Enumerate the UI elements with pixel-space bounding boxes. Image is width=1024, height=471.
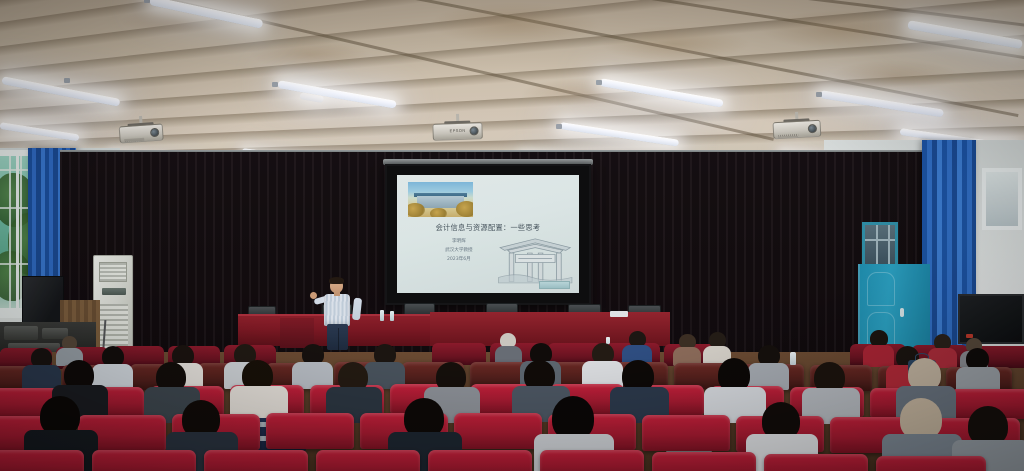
auditorium-seat xyxy=(540,450,644,471)
slide-archway-artwork xyxy=(497,230,573,284)
ceiling-projector-right xyxy=(772,111,822,143)
ceiling-projector-left xyxy=(118,114,164,145)
presenter xyxy=(316,278,360,350)
auditorium-seat xyxy=(92,450,196,471)
auditorium-seat xyxy=(876,456,986,471)
projector-body xyxy=(119,123,164,143)
projector-brand-label: EPSON xyxy=(449,128,465,134)
projector-lens xyxy=(808,124,817,133)
slide-campus-photo xyxy=(408,182,474,217)
slide-date: 2023年6月 xyxy=(412,256,507,262)
side-exit-door[interactable] xyxy=(858,264,930,356)
presenter-trousers xyxy=(327,324,348,350)
auditorium-seat xyxy=(316,450,420,471)
projector-body xyxy=(773,120,822,139)
presenter-hair xyxy=(329,277,344,284)
slide-presenter-name: 李明辉 xyxy=(412,238,507,244)
projector-vent xyxy=(125,138,145,142)
projector-lens xyxy=(469,126,478,135)
ac-display-panel[interactable] xyxy=(102,288,126,295)
auditorium-seat xyxy=(454,413,542,449)
auditorium-seat xyxy=(642,415,730,451)
presenter-right-hand xyxy=(310,292,317,299)
ceiling-projector-center: EPSON xyxy=(432,113,483,145)
water-bottle xyxy=(790,352,796,365)
presenter-shirt xyxy=(324,294,350,326)
door-handle[interactable] xyxy=(900,308,904,317)
slide-affiliation: 武汉大学教授 xyxy=(412,247,507,253)
auditorium-seat xyxy=(652,452,756,471)
flat-panel-monitor xyxy=(958,294,1024,344)
projection-screen: 会计信息与资源配置：一些思考 李明辉 武汉大学教授 2023年6月 xyxy=(385,164,591,305)
projector-vent xyxy=(778,134,798,138)
far-right-window xyxy=(982,168,1022,230)
slide-logo-badge xyxy=(539,281,570,289)
screen-surface: 会计信息与资源配置：一些思考 李明辉 武汉大学教授 2023年6月 xyxy=(397,175,579,293)
auditorium-seat xyxy=(266,413,354,449)
water-bottle xyxy=(380,310,384,321)
lecture-hall-photo: EPSON xyxy=(0,0,1024,471)
right-small-window xyxy=(862,222,898,268)
auditorium-seat xyxy=(204,450,308,471)
ac-top-grille xyxy=(99,262,127,282)
paper-document xyxy=(610,311,628,317)
water-bottle xyxy=(390,311,394,321)
projector-lens xyxy=(150,128,160,138)
auditorium-seat xyxy=(764,454,868,471)
projector-body: EPSON xyxy=(432,122,483,141)
auditorium-seat xyxy=(0,450,84,471)
auditorium-seat xyxy=(428,450,532,471)
